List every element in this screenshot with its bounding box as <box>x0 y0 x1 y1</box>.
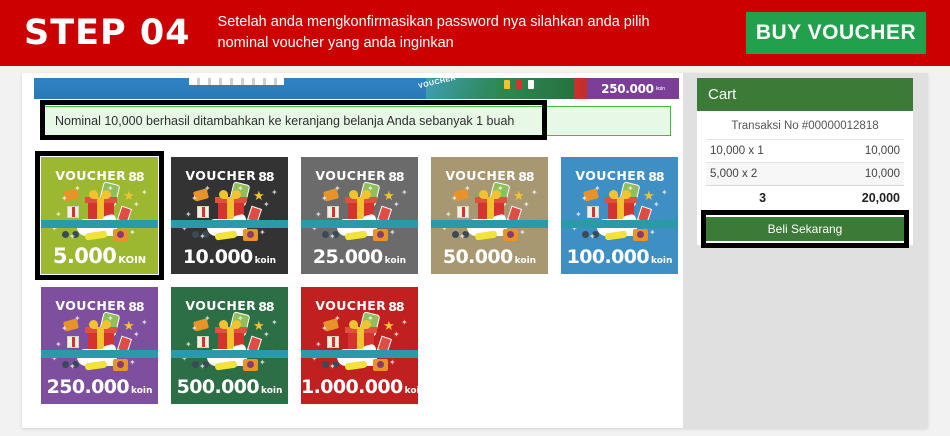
small-gift-icon <box>197 336 209 348</box>
gift-illustration: ★✦✦✦✦✦✦✦✦✦✦ <box>171 311 288 373</box>
sparkle-icon: ✦ <box>519 229 526 237</box>
sparkle-icon: ✦ <box>141 189 148 197</box>
voucher-amount-unit: koin <box>651 256 672 266</box>
sparkle-icon: ✦ <box>581 195 588 203</box>
watch-icon <box>215 361 238 371</box>
sparkle-icon: ✦ <box>531 189 538 197</box>
voucher-amount-unit: koin <box>131 386 152 396</box>
sparkle-icon: ✦ <box>74 315 81 323</box>
voucher-card-slot: VOUCHER88★✦✦✦✦✦✦✦✦✦✦1.000.000koin <box>301 287 418 404</box>
sparkle-icon: ✦ <box>393 331 400 339</box>
voucher-amount: 50.000koin <box>431 246 548 268</box>
voucher-amount: 1.000.000koin <box>301 376 418 398</box>
voucher-card-slot: VOUCHER88★✦✦✦✦✦✦✦✦✦✦10.000koin <box>171 157 288 274</box>
sparkle-icon: ✦ <box>627 185 634 193</box>
sparkle-icon: ✦ <box>334 185 341 193</box>
cart-row-amount: 10,000 <box>819 163 904 186</box>
sparkle-icon: ✦ <box>133 201 140 209</box>
sparkle-icon: ✦ <box>107 185 114 193</box>
sparkle-icon: ✦ <box>315 341 322 349</box>
sparkle-icon: ✦ <box>61 195 68 203</box>
voucher-amount-value: 50.000 <box>443 246 513 268</box>
cart-widget: Cart Transaksi No #00000012818 10,000 x … <box>697 78 913 245</box>
sparkle-icon: ✦ <box>263 201 270 209</box>
sparkle-icon: ✦ <box>259 229 266 237</box>
voucher-amount: 5.000KOIN <box>41 244 158 268</box>
cart-total-amount: 20,000 <box>819 186 904 211</box>
sparkle-icon: ✦ <box>367 185 374 193</box>
small-gift-icon <box>327 206 339 218</box>
promo-banner-strip: VOUCHER 250.000 koin <box>34 78 679 99</box>
sidebar-column: Cart Transaksi No #00000012818 10,000 x … <box>683 73 928 428</box>
teal-band-decoration <box>171 220 288 228</box>
cart-row: 10,000 x 110,000 <box>706 140 904 163</box>
cart-items-table: 10,000 x 110,0005,000 x 210,000320,000 <box>706 139 904 210</box>
teal-band-decoration <box>41 350 158 358</box>
gift-bow-icon <box>89 190 98 199</box>
sparkle-icon: ✦ <box>237 315 244 323</box>
gift-bow-icon <box>479 190 488 199</box>
sparkle-icon: ✦ <box>55 211 62 219</box>
sparkle-icon: ✦ <box>589 233 596 241</box>
confetti-icon <box>528 80 534 89</box>
sparkle-icon: ✦ <box>334 315 341 323</box>
camera-icon <box>503 229 518 241</box>
camera-icon <box>113 359 128 371</box>
sparkle-icon: ✦ <box>133 331 140 339</box>
watch-icon <box>605 231 628 241</box>
voucher-amount-value: 10.000 <box>183 246 253 268</box>
sparkle-icon: ✦ <box>329 363 336 371</box>
beli-sekarang-button[interactable]: Beli Sekarang <box>706 217 904 241</box>
small-gift-icon <box>457 206 469 218</box>
sparkle-icon: ✦ <box>69 233 76 241</box>
sparkle-icon: ✦ <box>259 359 266 367</box>
voucher-grid: VOUCHER88★✦✦✦✦✦✦✦✦✦✦5.000KOINVOUCHER88★✦… <box>41 157 671 417</box>
gift-illustration: ★✦✦✦✦✦✦✦✦✦✦ <box>41 311 158 373</box>
voucher-amount-unit: KOIN <box>118 255 146 266</box>
sparkle-icon: ✦ <box>464 185 471 193</box>
small-gift-icon <box>67 206 79 218</box>
voucher-card-250000[interactable]: VOUCHER88★✦✦✦✦✦✦✦✦✦✦250.000koin <box>41 287 158 404</box>
success-alert: Nominal 10,000 berhasil ditambahkan ke k… <box>42 106 671 136</box>
voucher-amount: 500.000koin <box>171 376 288 398</box>
voucher-card-25000[interactable]: VOUCHER88★✦✦✦✦✦✦✦✦✦✦25.000koin <box>301 157 418 274</box>
camera-icon <box>633 229 648 241</box>
voucher-card-100000[interactable]: VOUCHER88★✦✦✦✦✦✦✦✦✦✦100.000koin <box>561 157 678 274</box>
step-label: STEP 04 <box>24 13 191 53</box>
teal-band-decoration <box>41 220 158 228</box>
watch-icon <box>345 231 368 241</box>
banner-price-unit: koin <box>656 86 665 92</box>
voucher-card-slot: VOUCHER88★✦✦✦✦✦✦✦✦✦✦5.000KOIN <box>41 157 158 274</box>
cart-row-desc: 5,000 x 2 <box>706 163 819 186</box>
camera-icon <box>373 229 388 241</box>
voucher-card-slot: VOUCHER88★✦✦✦✦✦✦✦✦✦✦250.000koin <box>41 287 158 404</box>
camera-icon <box>243 359 258 371</box>
camera-icon <box>113 229 128 241</box>
small-gift-icon <box>197 206 209 218</box>
sparkle-icon: ✦ <box>445 211 452 219</box>
voucher-amount-value: 25.000 <box>313 246 383 268</box>
sparkle-icon: ✦ <box>74 185 81 193</box>
gift-illustration: ★✦✦✦✦✦✦✦✦✦✦ <box>301 311 418 373</box>
small-gift-icon <box>327 336 339 348</box>
sparkle-icon: ✦ <box>191 325 198 333</box>
sparkle-icon: ✦ <box>523 201 530 209</box>
sparkle-icon: ✦ <box>204 185 211 193</box>
watch-icon <box>475 231 498 241</box>
teal-band-decoration <box>301 220 418 228</box>
sparkle-icon: ✦ <box>594 185 601 193</box>
voucher-amount-value: 100.000 <box>567 246 649 268</box>
sparkle-icon: ✦ <box>185 211 192 219</box>
voucher-amount: 250.000koin <box>41 376 158 398</box>
buy-voucher-button[interactable]: BUY VOUCHER <box>746 12 926 54</box>
sparkle-icon: ✦ <box>129 359 136 367</box>
sparkle-icon: ✦ <box>271 319 278 327</box>
confetti-icon <box>504 80 510 89</box>
voucher-card-slot: VOUCHER88★✦✦✦✦✦✦✦✦✦✦500.000koin <box>171 287 288 404</box>
content-shell: VOUCHER 250.000 koin Nominal 10,000 berh… <box>22 73 928 428</box>
page-header: STEP 04 Setelah anda mengkonfirmasikan p… <box>0 0 950 66</box>
sparkle-icon: ✦ <box>271 189 278 197</box>
voucher-amount: 25.000koin <box>301 246 418 268</box>
cart-total-row: 320,000 <box>706 186 904 211</box>
voucher-amount: 100.000koin <box>561 246 678 268</box>
sparkle-icon: ✦ <box>141 319 148 327</box>
gift-illustration: ★✦✦✦✦✦✦✦✦✦✦ <box>41 181 158 243</box>
voucher-amount-value: 250.000 <box>47 376 129 398</box>
sparkle-icon: ✦ <box>129 229 136 237</box>
voucher-card-slot: VOUCHER88★✦✦✦✦✦✦✦✦✦✦25.000koin <box>301 157 418 274</box>
page-body: VOUCHER 250.000 koin Nominal 10,000 berh… <box>0 66 950 436</box>
teal-band-decoration <box>431 220 548 228</box>
voucher-amount-unit: koin <box>261 386 282 396</box>
gift-bow-icon <box>609 190 618 199</box>
gift-bow-icon <box>89 320 98 329</box>
alert-message: Nominal 10,000 berhasil ditambahkan ke k… <box>55 114 514 128</box>
voucher-card-10000[interactable]: VOUCHER88★✦✦✦✦✦✦✦✦✦✦10.000koin <box>171 157 288 274</box>
voucher-card-slot: VOUCHER88★✦✦✦✦✦✦✦✦✦✦50.000koin <box>431 157 548 274</box>
sparkle-icon: ✦ <box>649 229 656 237</box>
voucher-amount-unit: koin <box>255 256 276 266</box>
gift-bow-icon <box>349 320 358 329</box>
sparkle-icon: ✦ <box>393 201 400 209</box>
teal-band-decoration <box>561 220 678 228</box>
sparkle-icon: ✦ <box>263 331 270 339</box>
voucher-card-slot: VOUCHER88★✦✦✦✦✦✦✦✦✦✦100.000koin <box>561 157 678 274</box>
voucher-card-500000[interactable]: VOUCHER88★✦✦✦✦✦✦✦✦✦✦500.000koin <box>171 287 288 404</box>
banner-ticks-decoration <box>189 78 284 85</box>
sparkle-icon: ✦ <box>185 341 192 349</box>
sparkle-icon: ✦ <box>69 363 76 371</box>
sparkle-icon: ✦ <box>237 185 244 193</box>
voucher-amount-unit: koin <box>515 256 536 266</box>
gift-bow-icon <box>219 320 228 329</box>
cart-row: 5,000 x 210,000 <box>706 163 904 186</box>
camera-icon <box>373 359 388 371</box>
voucher-card-50000[interactable]: VOUCHER88★✦✦✦✦✦✦✦✦✦✦50.000koin <box>431 157 548 274</box>
sparkle-icon: ✦ <box>367 315 374 323</box>
sparkle-icon: ✦ <box>199 233 206 241</box>
sparkle-icon: ✦ <box>199 363 206 371</box>
sparkle-icon: ✦ <box>459 233 466 241</box>
buy-now-region: Beli Sekarang <box>706 217 904 241</box>
voucher-amount: 10.000koin <box>171 246 288 268</box>
sparkle-icon: ✦ <box>451 195 458 203</box>
sparkle-icon: ✦ <box>389 359 396 367</box>
sparkle-icon: ✦ <box>661 189 668 197</box>
small-gift-icon <box>67 336 79 348</box>
cart-row-amount: 10,000 <box>819 140 904 163</box>
cart-header: Cart <box>697 78 913 111</box>
gift-illustration: ★✦✦✦✦✦✦✦✦✦✦ <box>301 181 418 243</box>
sparkle-icon: ✦ <box>389 229 396 237</box>
voucher-card-1000000[interactable]: VOUCHER88★✦✦✦✦✦✦✦✦✦✦1.000.000koin <box>301 287 418 404</box>
gift-bow-icon <box>349 190 358 199</box>
watch-icon <box>85 361 108 371</box>
banner-price-label: 250.000 <box>601 82 654 96</box>
gift-bow-icon <box>219 190 228 199</box>
cart-transaction-number: Transaksi No #00000012818 <box>697 111 913 139</box>
voucher-amount-unit: koin <box>405 386 418 396</box>
voucher-amount-value: 1.000.000 <box>301 376 403 398</box>
alert-region: Nominal 10,000 berhasil ditambahkan ke k… <box>42 106 671 136</box>
sparkle-icon: ✦ <box>401 319 408 327</box>
confetti-icon <box>516 80 522 89</box>
voucher-row: VOUCHER88★✦✦✦✦✦✦✦✦✦✦250.000koinVOUCHER88… <box>41 287 671 404</box>
header-description: Setelah anda mengkonfirmasikan password … <box>218 12 698 54</box>
sparkle-icon: ✦ <box>329 233 336 241</box>
sparkle-icon: ✦ <box>497 185 504 193</box>
sparkle-icon: ✦ <box>401 189 408 197</box>
watch-icon <box>345 361 368 371</box>
voucher-row: VOUCHER88★✦✦✦✦✦✦✦✦✦✦5.000KOINVOUCHER88★✦… <box>41 157 671 274</box>
sparkle-icon: ✦ <box>321 195 328 203</box>
main-column: VOUCHER 250.000 koin Nominal 10,000 berh… <box>22 73 683 428</box>
sparkle-icon: ✦ <box>315 211 322 219</box>
cart-total-quantity: 3 <box>706 186 819 211</box>
teal-band-decoration <box>171 350 288 358</box>
voucher-amount-value: 500.000 <box>177 376 259 398</box>
voucher-amount-unit: koin <box>385 256 406 266</box>
sparkle-icon: ✦ <box>55 341 62 349</box>
gift-illustration: ★✦✦✦✦✦✦✦✦✦✦ <box>561 181 678 243</box>
gift-illustration: ★✦✦✦✦✦✦✦✦✦✦ <box>171 181 288 243</box>
sparkle-icon: ✦ <box>107 315 114 323</box>
camera-icon <box>243 229 258 241</box>
banner-price-badge: 250.000 koin <box>587 78 679 99</box>
watch-icon <box>85 231 108 241</box>
sparkle-icon: ✦ <box>653 201 660 209</box>
sparkle-icon: ✦ <box>204 315 211 323</box>
gift-illustration: ★✦✦✦✦✦✦✦✦✦✦ <box>431 181 548 243</box>
cart-row-desc: 10,000 x 1 <box>706 140 819 163</box>
sparkle-icon: ✦ <box>61 325 68 333</box>
sparkle-icon: ✦ <box>191 195 198 203</box>
teal-band-decoration <box>301 350 418 358</box>
sparkle-icon: ✦ <box>321 325 328 333</box>
sparkle-icon: ✦ <box>575 211 582 219</box>
voucher-amount-value: 5.000 <box>53 244 116 268</box>
voucher-card-5000[interactable]: VOUCHER88★✦✦✦✦✦✦✦✦✦✦5.000KOIN <box>41 157 158 274</box>
watch-icon <box>215 231 238 241</box>
small-gift-icon <box>587 206 599 218</box>
